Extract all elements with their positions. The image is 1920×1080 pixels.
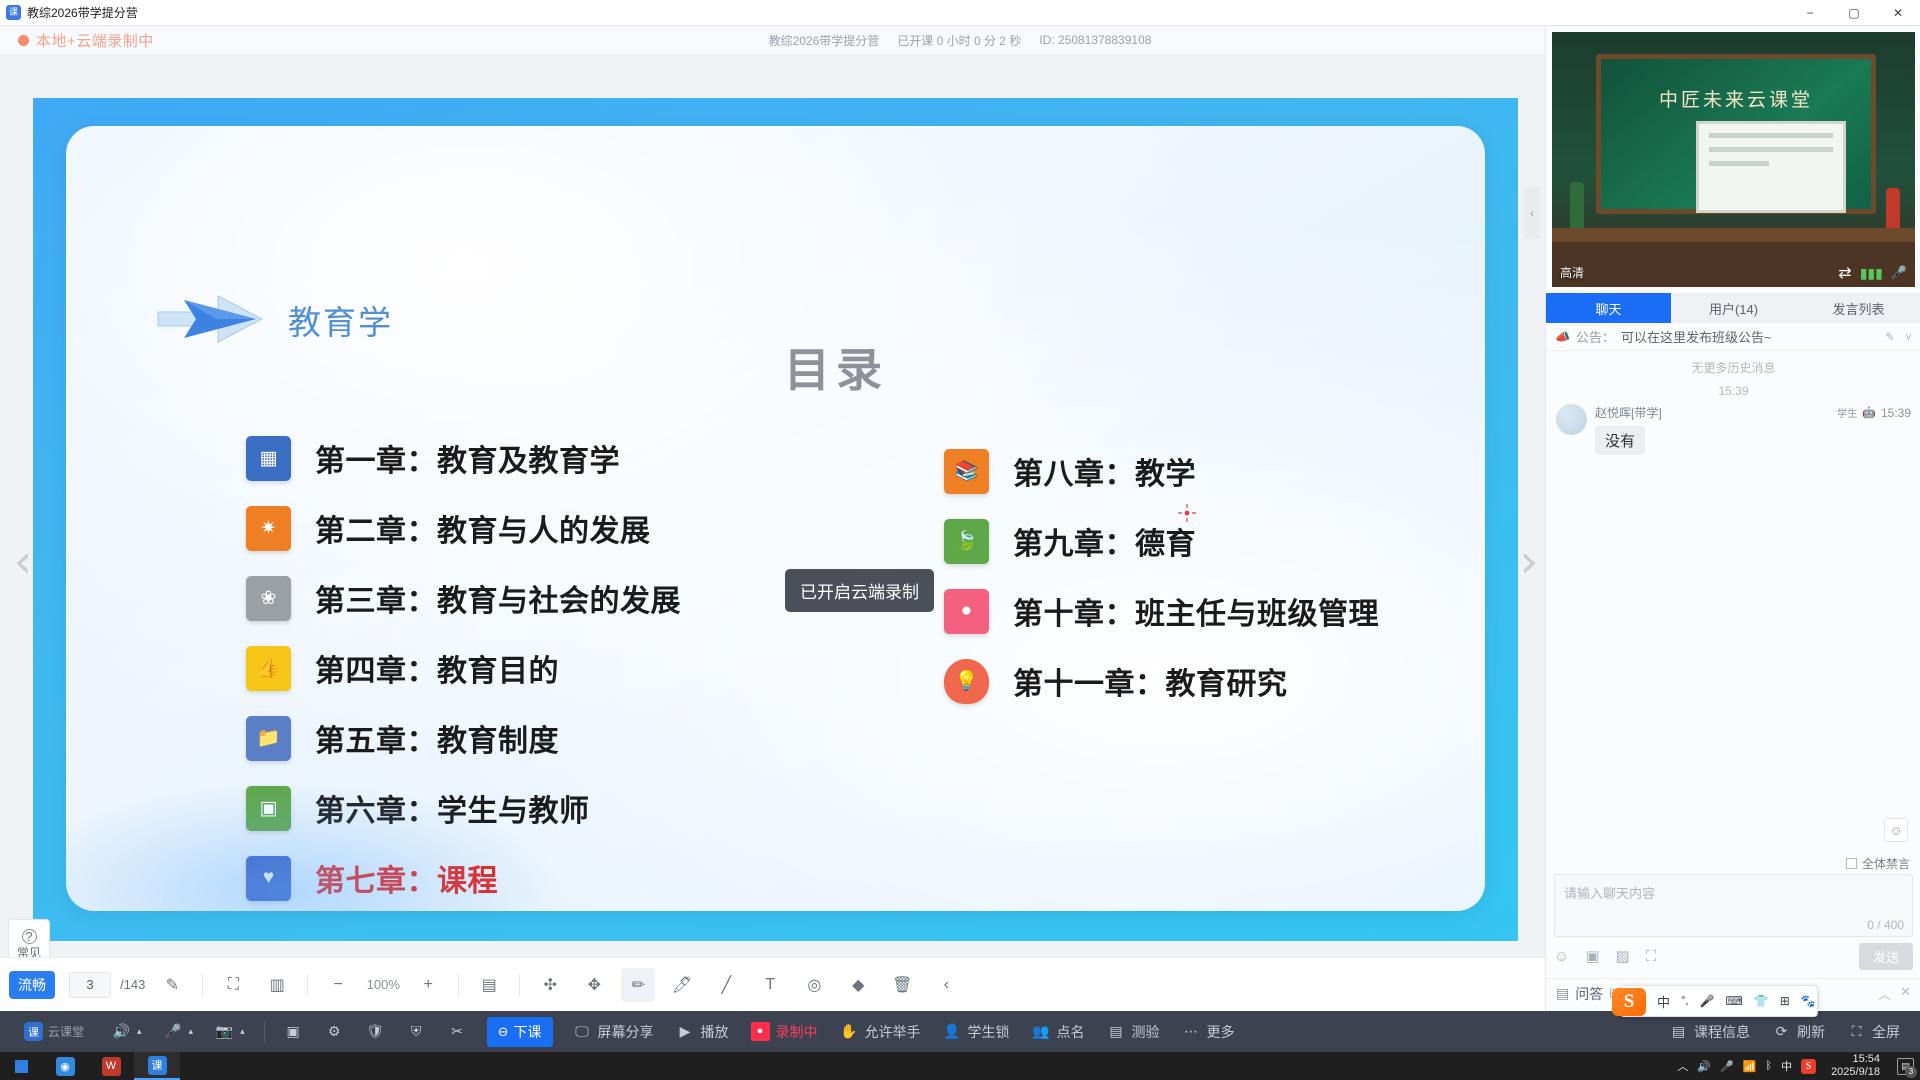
recording-status-label: 录制中 xyxy=(776,1022,818,1042)
chat-input-toolbar: ☺ ▣ ▨ ⛶ 发送 xyxy=(1554,943,1913,969)
speaker-volume-button[interactable]: 🔊▴ xyxy=(112,1022,142,1041)
highlight-pen-icon[interactable]: ✏ xyxy=(621,968,655,1002)
chapter-item[interactable]: 📁 第五章：教育制度 xyxy=(246,703,681,773)
quality-button[interactable]: 流畅 xyxy=(9,971,55,999)
globe-icon: ❀ xyxy=(246,576,291,621)
tab-chat[interactable]: 聊天 xyxy=(1546,293,1671,323)
microphone-off-icon: 🎤 xyxy=(164,1022,183,1041)
tray-network-icon[interactable]: 📶 xyxy=(1743,1060,1757,1073)
class-id-label: ID: 25081378839108 xyxy=(1039,33,1151,47)
marker-pen-icon[interactable]: 🖊 xyxy=(665,968,699,1002)
slide-toolstrip: 流畅 3 /143 ✎ ⛶ ▥ − 100% + ▤ ✣ ✥ ✏ 🖊 ╱ T ◎… xyxy=(0,957,1545,1011)
whiteboard-icon: ▣ xyxy=(284,1022,303,1041)
send-button[interactable]: 发送 xyxy=(1859,943,1913,970)
microphone-toggle-button[interactable]: 🎤▴ xyxy=(164,1022,194,1041)
refresh-icon: ⟳ xyxy=(1772,1022,1791,1041)
quiz-button[interactable]: ▤ 测验 xyxy=(1107,1022,1160,1042)
fullscreen-button[interactable]: ⛶ 全屏 xyxy=(1847,1022,1900,1042)
mute-all-row[interactable]: 全体禁言 xyxy=(1546,852,1920,874)
chapter-label: 第一章：教育及教育学 xyxy=(315,436,620,480)
chat-message: 赵悦晖[带学] 学生 🤖 15:39 没有 xyxy=(1546,398,1920,455)
tray-bluetooth-icon[interactable]: ᛒ xyxy=(1765,1060,1772,1072)
cloud-classroom-logo: 课 云课堂 xyxy=(24,1022,84,1041)
taskbar-chrome[interactable]: ◉ xyxy=(42,1052,88,1080)
whiteboard-button[interactable]: ▣ xyxy=(284,1022,303,1041)
chapter-label: 第四章：教育目的 xyxy=(315,646,559,690)
zoom-level-label: 100% xyxy=(364,977,402,992)
security-check-button[interactable]: ⛨ xyxy=(407,1022,426,1041)
panel-tabs: 聊天 用户(14) 发言列表 xyxy=(1546,293,1920,323)
scissors-button[interactable]: ✂ xyxy=(448,1022,467,1041)
mute-all-label: 全体禁言 xyxy=(1862,855,1910,872)
microphone-icon: 🎤 xyxy=(1891,265,1907,281)
hand-icon: ✋ xyxy=(840,1022,859,1041)
move-tool-icon[interactable]: ✥ xyxy=(577,968,611,1002)
roll-call-icon: 👥 xyxy=(1032,1022,1051,1041)
video-headline-label: 中匠未来云课堂 xyxy=(1601,85,1871,112)
text-tool-icon[interactable]: T xyxy=(753,968,787,1002)
tray-mic-icon[interactable]: 🎤 xyxy=(1720,1060,1734,1073)
whiteboard-stage: 教育学 目录 ▦ 第一章：教育及教育学 ✷ 第二章：教育与人的发展 ❀ 第三章：… xyxy=(0,54,1545,957)
signal-bars-icon: ▮▮▮ xyxy=(1860,265,1883,282)
refresh-label: 刷新 xyxy=(1797,1022,1825,1042)
chat-message-meta: 学生 🤖 15:39 xyxy=(1837,405,1911,420)
chat-role-badge: 学生 xyxy=(1837,405,1857,420)
window-minimize-button[interactable]: − xyxy=(1788,0,1832,26)
recording-dot-icon xyxy=(18,35,29,46)
chapter-label: 第八章：教学 xyxy=(1013,449,1196,493)
slide-canvas[interactable]: 教育学 目录 ▦ 第一章：教育及教育学 ✷ 第二章：教育与人的发展 ❀ 第三章：… xyxy=(66,126,1485,911)
quiz-label: 测验 xyxy=(1132,1022,1160,1042)
video-controls: ⇄ ▮▮▮ 🎤 xyxy=(1838,263,1907,283)
slide-next-button[interactable]: › xyxy=(1512,534,1546,594)
refresh-button[interactable]: ⟳ 刷新 xyxy=(1772,1022,1825,1042)
class-elapsed-label: 已开课 0 小时 0 分 2 秒 xyxy=(897,32,1021,49)
control-bar-right: ▤ 课程信息 ⟳ 刷新 ⛶ 全屏 xyxy=(1658,1022,1920,1042)
class-control-bar: 课 云课堂 🔊▴ 🎤▴ 📷▴ ▣ ⚙ 🛡 ⛨ ✂ ⊖ 下课 🖵 屏幕分享 ▶ 播… xyxy=(0,1011,1920,1052)
class-notice-bar: 📣 公告： 可以在这里发布班级公告~ ✎ ˅ xyxy=(1546,323,1920,351)
class-info-center: 教综2026带学提分营 已开课 0 小时 0 分 2 秒 ID: 2508137… xyxy=(769,32,1152,49)
app-icon: 课 xyxy=(6,5,21,20)
end-class-button[interactable]: ⊖ 下课 xyxy=(487,1017,553,1047)
fullscreen-label: 全屏 xyxy=(1872,1022,1900,1042)
cloud-recording-tooltip: 已开启云端录制 xyxy=(785,569,934,612)
circle-icon: ● xyxy=(944,589,989,634)
image-icon[interactable]: ▣ xyxy=(1585,947,1599,965)
slide-prev-button[interactable]: ‹ xyxy=(6,534,40,594)
laser-pen-toggle-icon[interactable]: ✎ xyxy=(155,968,189,1002)
chat-message-header: 赵悦晖[带学] 学生 🤖 15:39 xyxy=(1595,404,1911,421)
chat-input[interactable]: 请输入聊天内容 0 / 400 xyxy=(1554,874,1913,937)
chapter-column-right: 📚 第八章：教学 🍃 第九章：德育 ● 第十章：班主任与班级管理 💡 第十一章：… xyxy=(944,436,1379,716)
slide-board: 教育学 目录 ▦ 第一章：教育及教育学 ✷ 第二章：教育与人的发展 ❀ 第三章：… xyxy=(33,98,1518,941)
shield-button[interactable]: 🛡 xyxy=(366,1022,385,1041)
toolstrip-divider xyxy=(458,974,459,996)
slide-brand-label: 教育学 xyxy=(288,296,393,344)
chapter-label: 第十一章：教育研究 xyxy=(1013,659,1288,703)
settings-gear-icon: ⚙ xyxy=(325,1022,344,1041)
tab-speech-list[interactable]: 发言列表 xyxy=(1796,293,1920,323)
play-label: 播放 xyxy=(701,1022,729,1042)
more-label: 更多 xyxy=(1207,1022,1235,1042)
fit-page-icon[interactable]: ⛶ xyxy=(216,968,250,1002)
tray-sogou-icon[interactable]: S xyxy=(1801,1059,1816,1074)
mute-all-checkbox[interactable] xyxy=(1846,858,1857,869)
page-list-icon[interactable]: ▤ xyxy=(472,968,506,1002)
taskbar-clock[interactable]: 15:54 2025/9/18 xyxy=(1831,1053,1880,1079)
close-icon[interactable]: ✕ xyxy=(1900,984,1911,1003)
fullscreen-icon: ⛶ xyxy=(1847,1022,1866,1041)
plant-decor-icon xyxy=(1886,188,1900,228)
shape-circle-icon[interactable]: ◎ xyxy=(797,968,831,1002)
desk-edge xyxy=(1552,228,1915,242)
emoji-icon[interactable]: ☺ xyxy=(1554,948,1569,965)
qa-icon: ▤ xyxy=(1556,985,1569,1002)
chapter-label: 第十章：班主任与班级管理 xyxy=(1013,589,1379,633)
course-info-label: 课程信息 xyxy=(1694,1022,1750,1042)
chat-message-text: 没有 xyxy=(1595,426,1645,455)
tray-volume-icon[interactable]: 🔊 xyxy=(1697,1060,1711,1073)
course-info-button[interactable]: ▤ 课程信息 xyxy=(1669,1022,1750,1042)
chapter-label: 第七章：课程 xyxy=(315,856,498,900)
chapter-item[interactable]: 🍃 第九章：德育 xyxy=(944,506,1379,576)
logo-mark-icon: 课 xyxy=(24,1022,43,1041)
chat-message-time: 15:39 xyxy=(1881,406,1911,420)
chapter-item[interactable]: ▦ 第一章：教育及教育学 xyxy=(246,423,681,493)
screen-share-label: 屏幕分享 xyxy=(598,1022,654,1042)
exit-icon: ⊖ xyxy=(498,1024,509,1040)
windows-start-icon[interactable] xyxy=(0,1052,42,1080)
video-screen-line xyxy=(1709,161,1769,166)
tray-chevron-up-icon[interactable]: ︿ xyxy=(1677,1058,1688,1074)
emoji-panel-button[interactable]: ☺ xyxy=(1884,818,1908,842)
video-screen-line xyxy=(1709,133,1833,138)
chapter-label: 第二章：教育与人的发展 xyxy=(315,506,651,550)
chat-sender-name: 赵悦晖[带学] xyxy=(1595,404,1662,421)
window-controls: − ▢ ✕ xyxy=(1788,0,1920,26)
raise-hand-button[interactable]: ✋ 允许举手 xyxy=(840,1022,921,1042)
notice-text: 可以在这里发布班级公告~ xyxy=(1621,327,1875,346)
sun-icon: ✷ xyxy=(246,506,291,551)
toolstrip-divider xyxy=(202,974,203,996)
bulb-icon: 💡 xyxy=(944,659,989,704)
edit-icon[interactable]: ✎ xyxy=(1885,330,1895,344)
scissors-icon: ✂ xyxy=(448,1022,467,1041)
crosshair-cursor-icon xyxy=(1178,504,1196,522)
line-tool-icon[interactable]: ╱ xyxy=(709,968,743,1002)
shield-icon: 🛡 xyxy=(366,1022,385,1041)
select-pointer-icon[interactable]: ✣ xyxy=(533,968,567,1002)
chapter-item[interactable]: ✷ 第二章：教育与人的发展 xyxy=(246,493,681,563)
chapter-item[interactable]: ▣ 第六章：学生与教师 xyxy=(246,773,681,843)
qa-bar-actions: ︿ ✕ xyxy=(1878,984,1911,1003)
taskbar-classroom[interactable]: 课 xyxy=(134,1052,180,1080)
system-tray: ︿ 🔊 🎤 📶 ᛒ 中 S 15:54 2025/9/18 ▤ 3 xyxy=(1677,1053,1920,1079)
chapter-label: 第三章：教育与社会的发展 xyxy=(315,576,681,620)
screen-share-icon: 🖵 xyxy=(573,1022,592,1041)
chart-icon: ▦ xyxy=(246,436,291,481)
window-title: 教综2026带学提分营 xyxy=(27,4,138,21)
window-close-button[interactable]: ✕ xyxy=(1876,0,1920,26)
class-name-label: 教综2026带学提分营 xyxy=(769,32,880,49)
sogou-logo-icon: S xyxy=(1612,988,1646,1016)
clock-date: 2025/9/18 xyxy=(1831,1066,1880,1079)
chapter-label: 第六章：学生与教师 xyxy=(315,786,590,830)
notification-center-button[interactable]: ▤ 3 xyxy=(1897,1058,1914,1075)
video-inner-screen xyxy=(1696,121,1846,213)
settings-button[interactable]: ⚙ xyxy=(325,1022,344,1041)
roll-call-button[interactable]: 👥 点名 xyxy=(1032,1022,1085,1042)
chapter-item[interactable]: 💡 第十一章：教育研究 xyxy=(944,646,1379,716)
student-lock-icon: 👤 xyxy=(943,1022,962,1041)
notice-label: 公告： xyxy=(1576,327,1615,346)
taskbar-wps[interactable]: W xyxy=(88,1052,134,1080)
tray-ime-icon[interactable]: 中 xyxy=(1781,1058,1792,1074)
teacher-video-preview[interactable]: 中匠未来云课堂 高清 ⇄ ▮▮▮ 🎤 xyxy=(1552,32,1915,287)
play-icon: ▶ xyxy=(676,1022,695,1041)
page-total-label: /143 xyxy=(120,977,145,992)
plant-decor-icon xyxy=(1570,182,1584,228)
chapter-label: 第五章：教育制度 xyxy=(315,716,559,760)
more-dots-icon: ⋯ xyxy=(1182,1022,1201,1041)
crop-icon[interactable]: ⛶ xyxy=(1646,948,1657,965)
camera-toggle-button[interactable]: 📷▴ xyxy=(215,1022,245,1041)
tab-users[interactable]: 用户(14) xyxy=(1671,293,1796,323)
toolstrip-divider xyxy=(307,974,308,996)
clock-time: 15:54 xyxy=(1831,1053,1880,1066)
more-button[interactable]: ⋯ 更多 xyxy=(1182,1022,1235,1042)
chat-message-list[interactable]: 无更多历史消息 15:39 赵悦晖[带学] 学生 🤖 15:39 没有 xyxy=(1546,351,1920,851)
toolstrip-divider xyxy=(519,974,520,996)
course-info-icon: ▤ xyxy=(1669,1022,1688,1041)
chapter-item[interactable]: ❀ 第三章：教育与社会的发展 xyxy=(246,563,681,633)
ime-keyboard-icon[interactable]: ⌨ xyxy=(1725,994,1742,1008)
ime-voice-icon[interactable]: 🎤 xyxy=(1699,994,1714,1008)
char-counter: 0 / 400 xyxy=(1867,918,1904,932)
speaker-volume-icon: 🔊 xyxy=(112,1022,131,1041)
quiz-icon: ▤ xyxy=(1107,1022,1126,1041)
zoom-out-button[interactable]: − xyxy=(321,968,355,1002)
chat-message-body: 赵悦晖[带学] 学生 🤖 15:39 没有 xyxy=(1595,404,1911,455)
end-class-label: 下课 xyxy=(514,1022,542,1042)
page-number-input[interactable]: 3 xyxy=(69,972,111,998)
chat-time-divider: 15:39 xyxy=(1546,384,1920,398)
ime-apps-icon[interactable]: ⊞ xyxy=(1780,994,1790,1008)
folder-icon: 📁 xyxy=(246,716,291,761)
recording-status-button[interactable]: ⏺ 录制中 xyxy=(751,1022,818,1042)
swap-camera-icon[interactable]: ⇄ xyxy=(1838,263,1851,283)
chapter-item[interactable]: ♥ 第七章：课程 xyxy=(246,843,681,911)
chapter-label: 第九章：德育 xyxy=(1013,519,1196,563)
qa-label: 问答 xyxy=(1575,984,1603,1004)
record-icon: ⏺ xyxy=(751,1022,770,1041)
right-side-panel: 中匠未来云课堂 高清 ⇄ ▮▮▮ 🎤 聊天 用户(14) 发言列表 📣 公告： … xyxy=(1545,26,1920,1011)
roll-call-label: 点名 xyxy=(1057,1022,1085,1042)
slide-title-label: 目录 xyxy=(784,334,888,400)
no-more-history-label: 无更多历史消息 xyxy=(1546,359,1920,376)
ime-mode-label[interactable]: 中 xyxy=(1657,992,1670,1011)
chat-input-placeholder: 请输入聊天内容 xyxy=(1564,883,1655,902)
windows-taskbar: ◉ W 课 ︿ 🔊 🎤 📶 ᛒ 中 S 15:54 2025/9/18 ▤ 3 xyxy=(0,1052,1920,1080)
question-icon: ? xyxy=(22,929,37,944)
student-lock-button[interactable]: 👤 学生锁 xyxy=(943,1022,1010,1042)
chapter-item[interactable]: 👍 第四章：教育目的 xyxy=(246,633,681,703)
chapter-item[interactable]: ● 第十章：班主任与班级管理 xyxy=(944,576,1379,646)
security-check-icon: ⛨ xyxy=(407,1022,426,1041)
eraser-icon[interactable]: ◆ xyxy=(841,968,875,1002)
books-icon: 📚 xyxy=(944,449,989,494)
chevron-down-icon[interactable]: ˅ xyxy=(1905,330,1912,344)
recording-label: 本地+云端录制中 xyxy=(36,30,154,51)
chevron-up-icon[interactable]: ︿ xyxy=(1878,984,1891,1003)
camera-off-icon: 📷 xyxy=(215,1022,234,1041)
screen-share-button[interactable]: 🖵 屏幕分享 xyxy=(573,1022,654,1042)
book-icon: ▣ xyxy=(246,786,291,831)
chapter-item[interactable]: 📚 第八章：教学 xyxy=(944,436,1379,506)
controlbar-divider xyxy=(264,1021,265,1043)
heart-icon: ♥ xyxy=(246,856,291,901)
video-quality-label[interactable]: 高清 xyxy=(1560,264,1584,281)
collapse-tools-icon[interactable]: ‹ xyxy=(929,968,963,1002)
panel-collapse-button[interactable]: ‹ xyxy=(1524,187,1540,239)
ime-skin-icon[interactable]: 👕 xyxy=(1754,994,1769,1008)
screenshot-icon[interactable]: ▨ xyxy=(1616,947,1630,965)
ime-floating-bar[interactable]: S 中 °, 🎤 ⌨ 👕 ⊞ 🐾 xyxy=(1620,985,1818,1017)
android-icon: 🤖 xyxy=(1862,406,1876,419)
window-maximize-button[interactable]: ▢ xyxy=(1832,0,1876,26)
ime-punctuation-icon[interactable]: °, xyxy=(1681,995,1688,1007)
avatar[interactable] xyxy=(1556,404,1587,435)
green-board-graphic: 中匠未来云课堂 xyxy=(1596,54,1876,214)
recording-indicator: 本地+云端录制中 xyxy=(18,30,154,51)
megaphone-icon: 📣 xyxy=(1555,330,1570,344)
play-button[interactable]: ▶ 播放 xyxy=(676,1022,729,1042)
ime-more-icon[interactable]: 🐾 xyxy=(1801,994,1816,1008)
clear-all-icon[interactable]: 🗑 xyxy=(885,968,919,1002)
video-screen-line xyxy=(1709,147,1833,152)
student-lock-label: 学生锁 xyxy=(968,1022,1010,1042)
split-view-icon[interactable]: ▥ xyxy=(260,968,294,1002)
notification-count: 3 xyxy=(1905,1066,1917,1078)
raise-hand-label: 允许举手 xyxy=(865,1022,921,1042)
leaf-icon: 🍃 xyxy=(944,519,989,564)
chapter-column-left: ▦ 第一章：教育及教育学 ✷ 第二章：教育与人的发展 ❀ 第三章：教育与社会的发… xyxy=(246,423,681,911)
arrow-logo-icon xyxy=(156,286,266,352)
logo-label: 云课堂 xyxy=(48,1023,84,1040)
thumbsup-icon: 👍 xyxy=(246,646,291,691)
window-titlebar: 课 教综2026带学提分营 − ▢ ✕ xyxy=(0,0,1920,26)
zoom-in-button[interactable]: + xyxy=(411,968,445,1002)
